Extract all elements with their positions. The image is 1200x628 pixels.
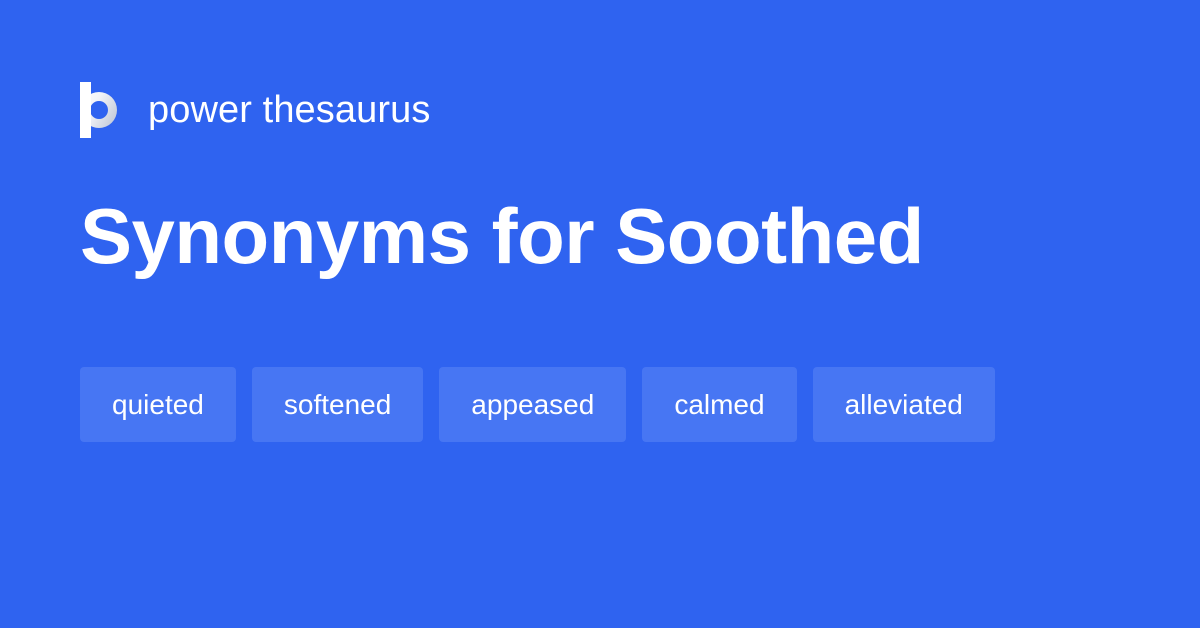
synonym-chip[interactable]: calmed (642, 367, 796, 442)
brand-name: power thesaurus (148, 91, 430, 129)
synonym-chip[interactable]: quieted (80, 367, 236, 442)
synonym-chip[interactable]: appeased (439, 367, 626, 442)
synonym-chip-label: appeased (471, 391, 594, 419)
synonyms-share-card: power thesaurus Synonyms for Soothed qui… (0, 0, 1200, 628)
synonym-chip-label: quieted (112, 391, 204, 419)
synonym-chip-label: softened (284, 391, 391, 419)
synonym-chip-label: alleviated (845, 391, 963, 419)
synonym-chip[interactable]: softened (252, 367, 423, 442)
synonym-chip-label: calmed (674, 391, 764, 419)
page-title: Synonyms for Soothed (80, 196, 924, 278)
synonym-chip[interactable]: alleviated (813, 367, 995, 442)
power-thesaurus-b-logo-icon (80, 82, 124, 138)
synonym-chip-list: quieted softened appeased calmed allevia… (80, 367, 1120, 442)
brand-logo[interactable]: power thesaurus (80, 80, 430, 140)
